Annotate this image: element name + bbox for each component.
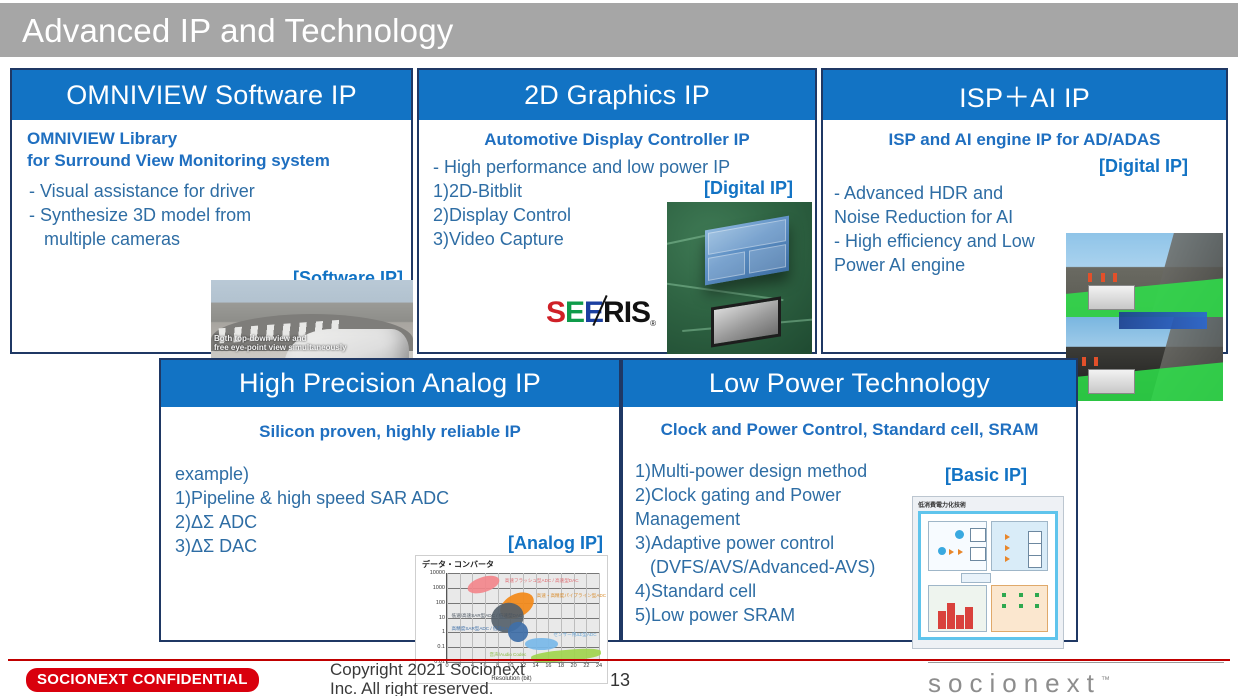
panel-2d-graphics-ip: 2D Graphics IP Automotive Display Contro… (417, 68, 817, 354)
lp-block-power-domain (991, 521, 1049, 570)
die-block-capture-control (748, 245, 785, 274)
dashcam-view-raw (1066, 317, 1223, 401)
lp-pmu-connector (961, 573, 990, 583)
lp-buffer-icon (1005, 556, 1010, 562)
slide-root: Advanced IP and Technology OMNIVIEW Soft… (0, 0, 1238, 696)
ad-adas-dashcam-photo (1066, 233, 1223, 401)
chart-label-pipeline-adc: 高速・高精度パイプライン型ADC / 高速型DAC (537, 593, 608, 598)
chart-gridline-v: 0 (447, 573, 448, 662)
chart-region-sensor-delta-sigma-adc (525, 638, 558, 650)
lowpower-subtitle: Clock and Power Control, Standard cell, … (623, 419, 1076, 441)
chip-package (711, 297, 781, 348)
ispai-subtitle: ISP and AI engine IP for AD/ADAS (823, 129, 1226, 151)
lp-flipflop (1028, 531, 1042, 544)
traffic-cone (1088, 273, 1092, 282)
panel-low-power-technology: Low Power Technology Clock and Power Con… (621, 358, 1078, 642)
lp-cell-dot (1035, 593, 1039, 597)
chip-die (705, 216, 789, 286)
dashcam-view-segmented (1066, 233, 1223, 317)
chart-label-flash-adc: 高速フラッシュ型ADC / 高速型DAC (505, 578, 579, 583)
lowpower-bullets: 1)Multi-power design method 2)Clock gati… (635, 460, 875, 628)
lowpower-tag: [Basic IP] (945, 465, 1027, 486)
lp-power-bar (938, 611, 946, 629)
lp-cell-dot (1002, 593, 1006, 597)
lp-power-bar (956, 615, 964, 629)
road-vehicle (1088, 285, 1135, 310)
traffic-cone (1082, 357, 1086, 366)
lp-power-bar (965, 607, 973, 629)
seeris-letter-s: S (546, 296, 565, 329)
lp-flipflop (1028, 555, 1042, 568)
panel-isp-ai-header: ISP＋AI IP (823, 70, 1226, 120)
traffic-cone (1113, 273, 1117, 282)
lp-block-clock-gating (928, 521, 987, 570)
lp-cell-dot (1019, 593, 1023, 597)
seeris-registered-mark: ® (650, 319, 655, 328)
socionext-wordmark: socionext (928, 668, 1101, 696)
graphics2d-tag: [Digital IP] (704, 178, 793, 199)
seeris-letter-e1: E (565, 296, 584, 329)
lp-cell-dot (1019, 604, 1023, 608)
lp-buffer-icon (958, 549, 963, 555)
panel-2d-graphics-header: 2D Graphics IP (419, 70, 815, 120)
lp-buffer-icon (1005, 545, 1010, 551)
low-power-technology-diagram: 低消費電力化技術 (912, 496, 1064, 649)
lp-clock-node (938, 547, 946, 555)
analog-tag: [Analog IP] (508, 533, 603, 554)
lp-flipflop (970, 547, 986, 561)
brand-divider (928, 662, 1224, 663)
trademark-mark: ™ (1101, 674, 1110, 684)
seeris-letters-ris: RIS (603, 296, 650, 329)
lp-buffer-icon (1005, 534, 1010, 540)
lp-diagram-frame (918, 511, 1058, 640)
confidential-badge: SOCIONEXT CONFIDENTIAL (26, 668, 259, 692)
chart-gridline-v: 18 (561, 573, 562, 662)
seeris-logo: SEERIS® (546, 298, 655, 328)
panel-omniview-software-ip: OMNIVIEW Software IP OMNIVIEW Library fo… (10, 68, 413, 354)
chart-plot-area: 10000 1000 100 10 1 0.1 0.01 0 2 4 6 8 1… (446, 573, 599, 663)
chart-label-sensor-adc: センサー用ΔΣ型ADC (553, 632, 596, 637)
page-number: 13 (600, 670, 640, 691)
panel-low-power-header: Low Power Technology (623, 360, 1076, 407)
lp-block-power-chart (928, 585, 987, 632)
photo-caption: Both top-down view and free eye-point vi… (214, 334, 346, 353)
road-vehicle (1088, 369, 1135, 394)
overlay-label-strip (1119, 312, 1207, 329)
footer-divider (8, 659, 1230, 661)
chart-region-flash-adc (465, 572, 501, 597)
analog-subtitle: Silicon proven, highly reliable IP (161, 421, 619, 443)
lp-buffer-icon (949, 549, 954, 555)
graphics2d-subtitle: Automotive Display Controller IP (419, 129, 815, 151)
lp-diagram-title: 低消費電力化技術 (918, 500, 966, 509)
socionext-logo: socionext™ (928, 668, 1228, 696)
chart-label-precision-sar-adc: 高精度SAR型ADC / 低速DAC (452, 626, 512, 631)
lp-flipflop (1028, 543, 1042, 556)
lp-clock-node (955, 530, 964, 539)
ispai-tag: [Digital IP] (1099, 156, 1188, 177)
page-title: Advanced IP and Technology (0, 14, 453, 47)
ispai-bullets: - Advanced HDR and Noise Reduction for A… (834, 182, 1035, 278)
lp-cell-dot (1035, 604, 1039, 608)
omniview-subtitle: OMNIVIEW Library for Surround View Monit… (27, 128, 330, 172)
lp-cell-dot (1002, 604, 1006, 608)
traffic-cone (1101, 273, 1105, 282)
panel-omniview-header: OMNIVIEW Software IP (12, 70, 411, 120)
lp-power-bar (947, 603, 955, 629)
lp-block-standard-cell (991, 585, 1049, 632)
slide-title-bar: Advanced IP and Technology (0, 3, 1238, 57)
panel-analog-header: High Precision Analog IP (161, 360, 619, 407)
omniview-bullets: - Visual assistance for driver - Synthes… (29, 180, 255, 252)
panel-isp-ai-ip: ISP＋AI IP ISP and AI engine IP for AD/AD… (821, 68, 1228, 354)
chart-title: データ・コンバータ (422, 559, 494, 570)
copyright-notice: Copyright 2021 Socionext Inc. All right … (330, 660, 590, 696)
lp-flipflop (970, 528, 986, 542)
traffic-cone (1094, 357, 1098, 366)
chart-label-audio-codec: 音声/Audio Codec (490, 652, 527, 657)
chart-gridline-v: 24 (599, 573, 600, 662)
chart-label-sar-adc: 低速/高速SAR型ADC / 低速型DAC (452, 613, 523, 618)
analog-bullets: example) 1)Pipeline & high speed SAR ADC… (175, 463, 449, 559)
panel-high-precision-analog-ip: High Precision Analog IP Silicon proven,… (159, 358, 621, 642)
die-block-display-control (708, 252, 745, 281)
graphics-chip-photo (667, 202, 812, 354)
